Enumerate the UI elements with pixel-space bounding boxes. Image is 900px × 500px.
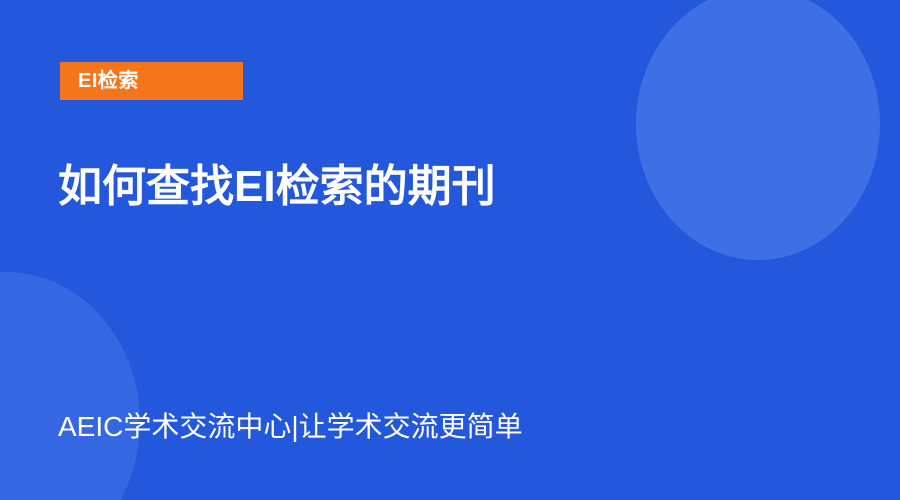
banner-content: EI检索 如何查找EI检索的期刊 AEIC学术交流中心|让学术交流更简单 xyxy=(0,0,900,500)
banner-footer-tagline: AEIC学术交流中心|让学术交流更简单 xyxy=(58,410,523,444)
promo-banner: EI检索 如何查找EI检索的期刊 AEIC学术交流中心|让学术交流更简单 xyxy=(0,0,900,500)
category-badge: EI检索 xyxy=(60,62,243,100)
category-badge-label: EI检索 xyxy=(78,71,139,91)
banner-headline: 如何查找EI检索的期刊 xyxy=(58,162,496,213)
